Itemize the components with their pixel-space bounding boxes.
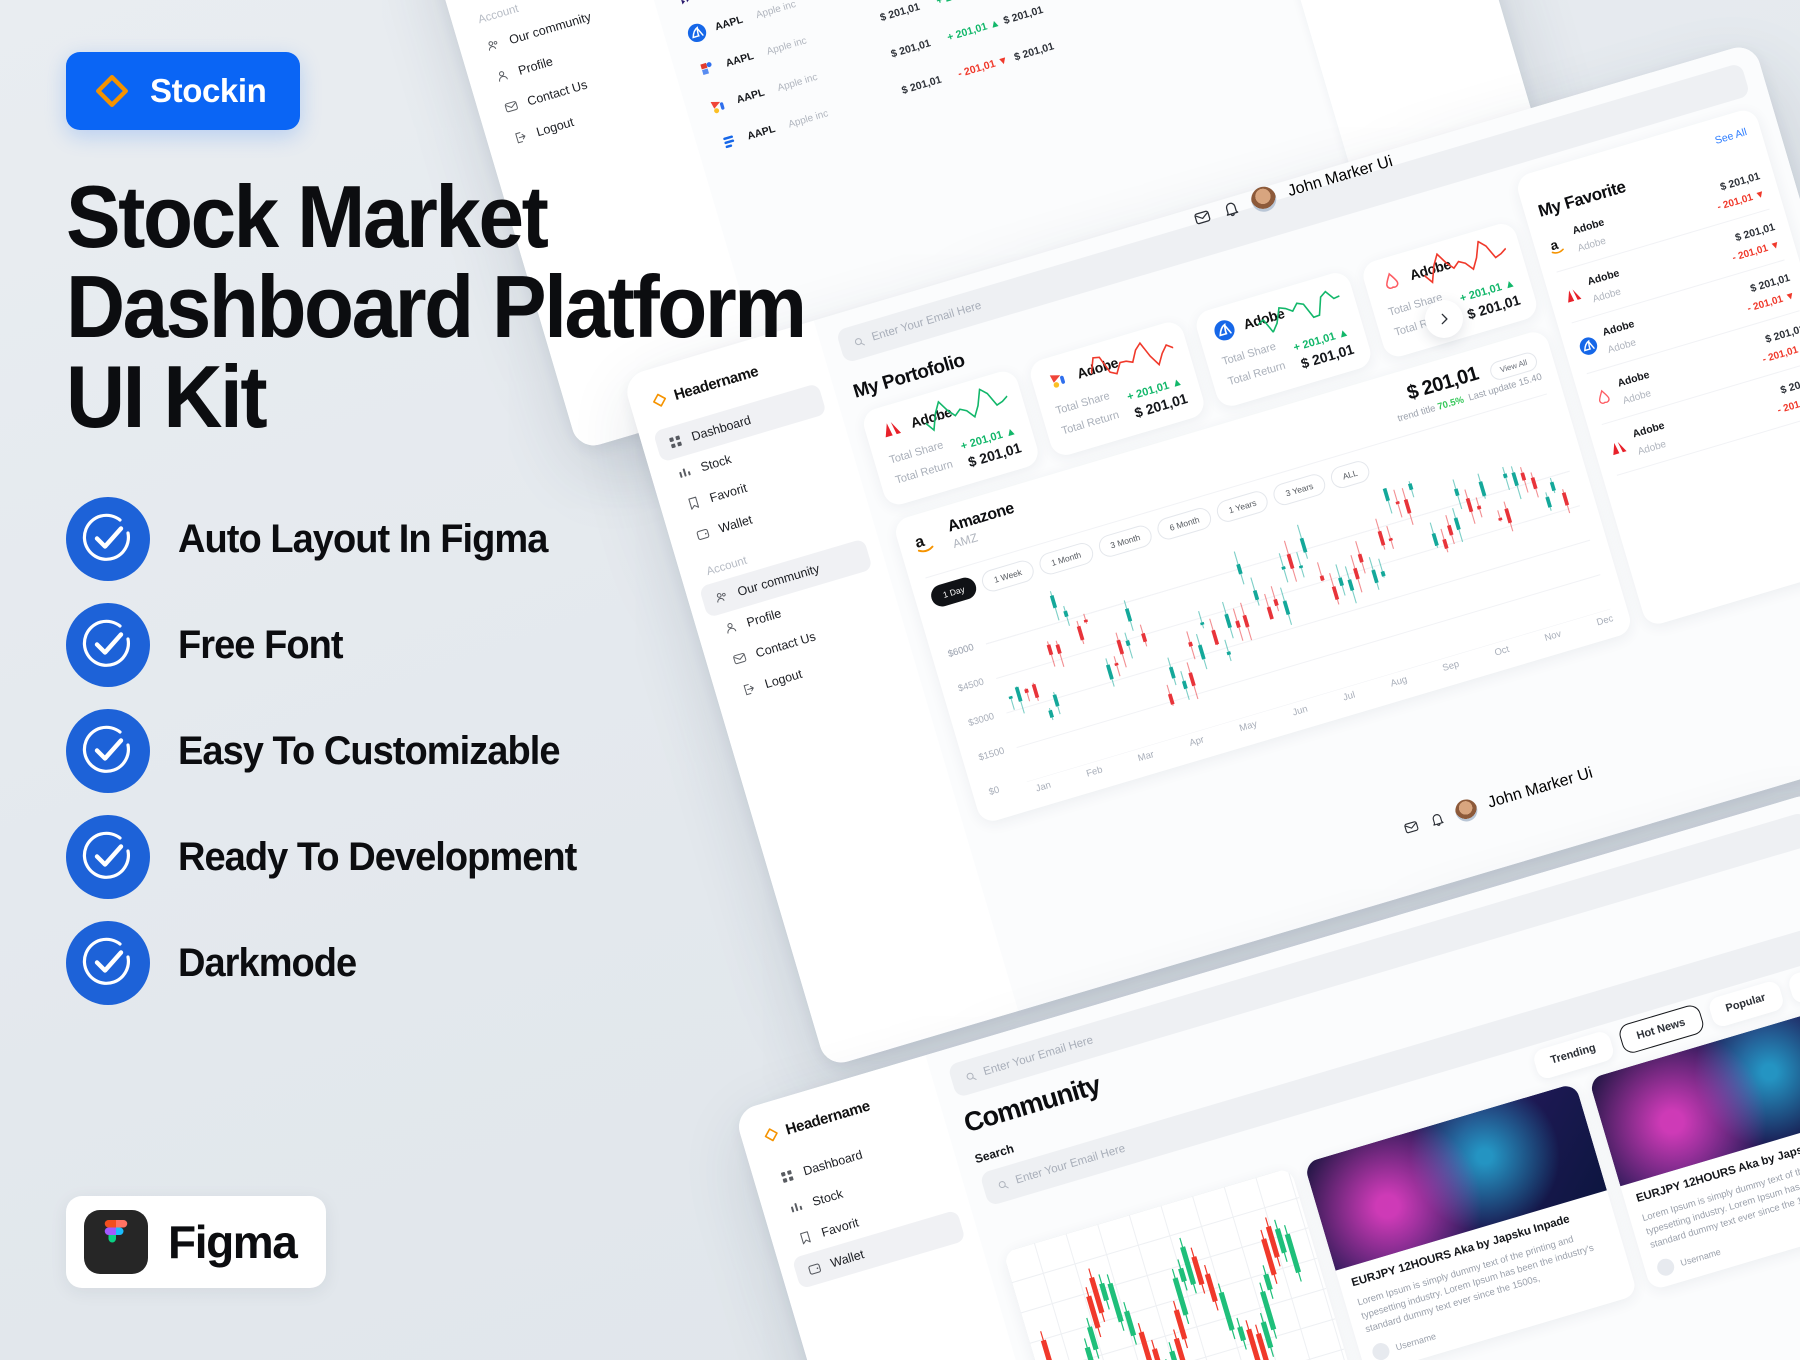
avatar [1655, 1257, 1676, 1278]
fav-price: $ 201,01 [1779, 374, 1800, 397]
airbnb-logo-icon [1592, 385, 1616, 409]
feature-label: Easy To Customizable [178, 729, 560, 774]
bell-icon[interactable] [1428, 810, 1447, 829]
fav-name: Adobe [1601, 318, 1636, 339]
avatar [1370, 1341, 1391, 1360]
feature-label: Darkmode [178, 941, 356, 986]
sidebar-item-label: Favorit [820, 1215, 861, 1239]
feature-label: Free Font [178, 623, 343, 668]
mail-icon[interactable] [1402, 817, 1421, 836]
row-change: + 201,01 ▲ [946, 16, 1006, 44]
brand-name: Stockin [150, 72, 266, 110]
check-circle-icon [66, 815, 150, 899]
atlassian-logo-icon [685, 20, 710, 45]
grid-icon [779, 1168, 796, 1185]
news-username: Username [1394, 1331, 1437, 1352]
atlassian-logo-icon [1577, 334, 1601, 358]
timeframe-1-years[interactable]: 1 Years [1214, 488, 1270, 524]
sidebar-item-label: Wallet [829, 1247, 866, 1270]
feature-list: Auto Layout In FigmaFree FontEasy To Cus… [66, 497, 1066, 1005]
promo-poster: Headername StockFavoritWallet Account Ou… [0, 0, 1800, 1360]
page-title: Stock Market Dashboard Platform UI Kit [66, 172, 996, 441]
fav-sub: Adobe [1607, 337, 1638, 356]
bell-icon[interactable] [1221, 198, 1242, 219]
amazon-logo-icon: a [1546, 232, 1570, 256]
check-circle-icon [66, 709, 150, 793]
mail-icon[interactable] [1192, 207, 1213, 228]
check-circle-icon [66, 603, 150, 687]
feature-item-3: Ready To Development [66, 815, 1066, 899]
row-company: Apple inc [755, 0, 798, 21]
feature-label: Auto Layout In Figma [178, 517, 547, 562]
fav-sub: Adobe [1622, 388, 1653, 407]
slack-logo-icon [674, 0, 699, 9]
fav-sub: Adobe [1591, 286, 1622, 305]
fav-price: $ 201,01 [1764, 323, 1800, 346]
bar-chart-icon [788, 1198, 805, 1215]
feature-item-2: Easy To Customizable [66, 709, 1066, 793]
figma-badge: Figma [66, 1196, 326, 1288]
fav-change: - 201,01 ▼ [1776, 392, 1800, 417]
check-circle-icon [66, 603, 150, 687]
svg-text:a: a [1548, 236, 1560, 253]
fav-name: Adobe [1631, 420, 1666, 441]
atlassian-logo-icon [1211, 317, 1238, 344]
check-circle-icon [66, 497, 150, 581]
row-market-cap: $ 201,01 [1002, 0, 1062, 27]
brand-badge: Stockin [66, 52, 300, 130]
figma-label: Figma [168, 1215, 296, 1269]
figma-logo-icon [84, 1210, 148, 1274]
adobe-logo-icon [1607, 435, 1631, 459]
fav-name: Adobe [1586, 267, 1621, 288]
feature-label: Ready To Development [178, 835, 576, 880]
fav-sub: Adobe [1637, 439, 1668, 458]
timeframe-3-month[interactable]: 3 Month [1096, 523, 1155, 560]
row-price: $ 201,01 [879, 0, 939, 24]
bookmark-icon [797, 1229, 814, 1246]
check-circle-icon [66, 815, 150, 899]
sidebar-item-label: Stock [811, 1187, 845, 1209]
diamond-icon [94, 73, 130, 109]
timeframe-3-years[interactable]: 3 Years [1271, 471, 1327, 507]
check-circle-icon [66, 709, 150, 793]
chevron-right-icon [1437, 312, 1451, 326]
fav-name: Adobe [1616, 369, 1651, 390]
airbnb-logo-icon [1377, 267, 1404, 294]
timeframe-6-month[interactable]: 6 Month [1155, 505, 1214, 542]
sidebar-brand-label: Headername [784, 1098, 872, 1139]
check-circle-icon [66, 921, 150, 1005]
wallet-icon [806, 1260, 823, 1277]
carousel-next-button[interactable] [1425, 300, 1463, 338]
diamond-icon [762, 1125, 781, 1144]
feature-item-1: Free Font [66, 603, 1066, 687]
search-icon [964, 1069, 978, 1083]
fav-sub: Adobe [1576, 236, 1607, 255]
feature-item-0: Auto Layout In Figma [66, 497, 1066, 581]
promo-column: Stockin Stock Market Dashboard Platform … [66, 52, 1066, 1005]
adobe-logo-icon [1561, 283, 1585, 307]
timeframe-all[interactable]: ALL [1328, 458, 1372, 490]
check-circle-icon [66, 921, 150, 1005]
search-icon [996, 1178, 1010, 1192]
search-placeholder: Enter Your Email Here [982, 1034, 1095, 1078]
news-username: Username [1679, 1246, 1722, 1267]
feature-item-4: Darkmode [66, 921, 1066, 1005]
row-ticker: AAPL [714, 14, 745, 34]
fav-name: Adobe [1571, 216, 1606, 237]
check-circle-icon [66, 497, 150, 581]
